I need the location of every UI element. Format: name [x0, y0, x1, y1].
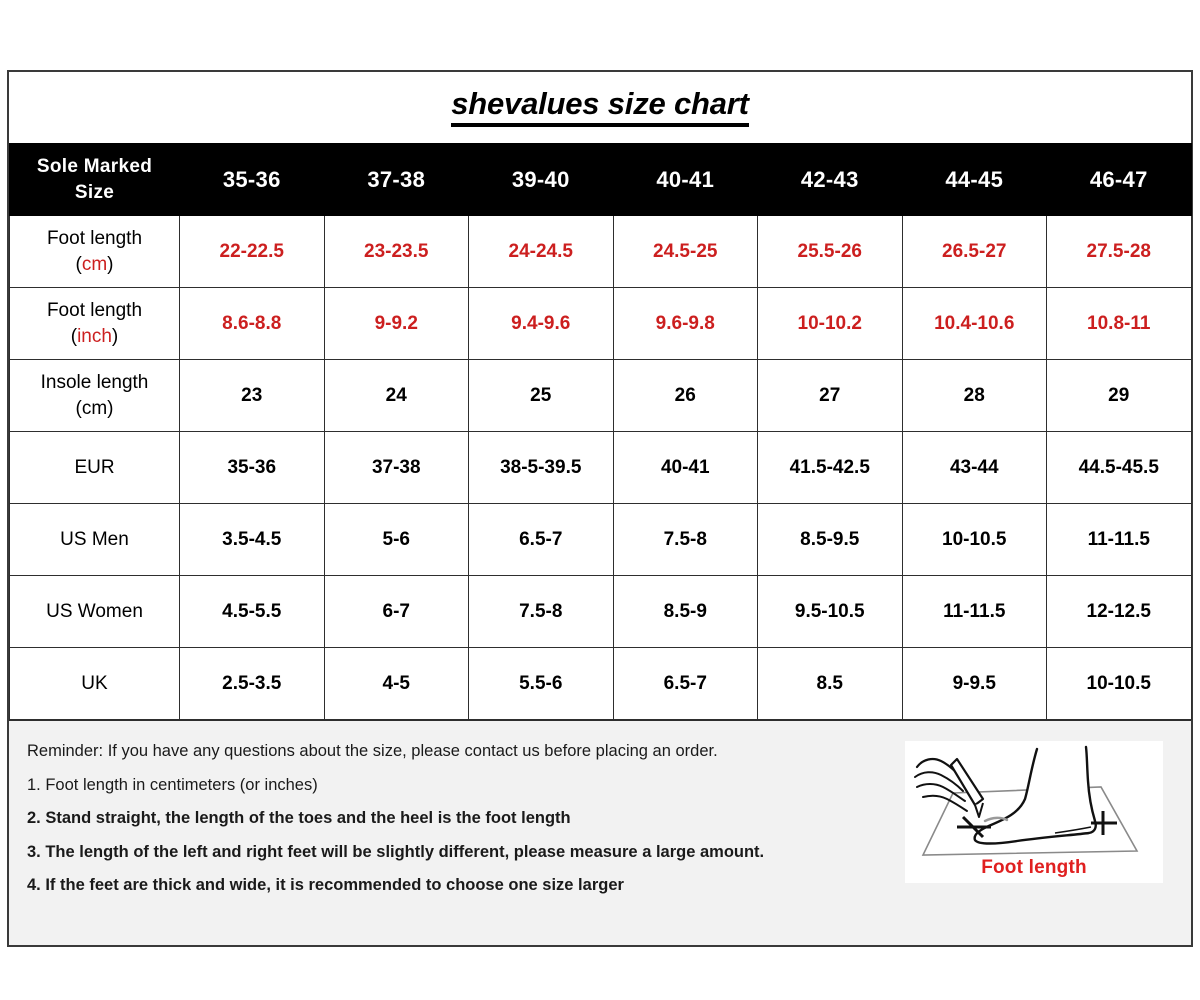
table-cell: 23-23.5: [324, 216, 469, 288]
table-cell: 38-5-39.5: [469, 432, 614, 504]
table-cell: 37-38: [324, 432, 469, 504]
table-row: Foot length(inch)8.6-8.89-9.29.4-9.69.6-…: [10, 288, 1192, 360]
table-cell: 5-6: [324, 504, 469, 576]
table-cell: 9.4-9.6: [469, 288, 614, 360]
table-cell: 11-11.5: [1047, 504, 1192, 576]
row-label-main: US Women: [16, 599, 173, 625]
header-sole-marked-size: Sole Marked Size: [10, 144, 180, 216]
table-cell: 3.5-4.5: [180, 504, 325, 576]
table-cell: 10.8-11: [1047, 288, 1192, 360]
table-cell: 9-9.2: [324, 288, 469, 360]
table-cell: 12-12.5: [1047, 576, 1192, 648]
row-label-unit-close: ): [107, 254, 113, 275]
row-label-main: US Men: [16, 527, 173, 553]
row-label: US Men: [10, 504, 180, 576]
row-label: UK: [10, 648, 180, 720]
row-label-main: Foot length: [16, 298, 173, 324]
header-col-6: 44-45: [902, 144, 1047, 216]
table-cell: 10-10.5: [1047, 648, 1192, 720]
row-label: Foot length(inch): [10, 288, 180, 360]
header-col-5: 42-43: [758, 144, 903, 216]
header-row: Sole Marked Size 35-36 37-38 39-40 40-41…: [10, 144, 1192, 216]
row-label-unit-text: cm: [82, 398, 107, 419]
table-cell: 5.5-6: [469, 648, 614, 720]
row-label: EUR: [10, 432, 180, 504]
foot-length-caption: Foot length: [905, 857, 1163, 879]
table-cell: 27: [758, 360, 903, 432]
table-cell: 41.5-42.5: [758, 432, 903, 504]
table-body: Foot length(cm)22-22.523-23.524-24.524.5…: [10, 216, 1192, 720]
table-cell: 44.5-45.5: [1047, 432, 1192, 504]
header-col-4: 40-41: [613, 144, 758, 216]
table-cell: 24-24.5: [469, 216, 614, 288]
size-table: Sole Marked Size 35-36 37-38 39-40 40-41…: [9, 143, 1192, 720]
table-cell: 9-9.5: [902, 648, 1047, 720]
row-label-unit-text: cm: [82, 254, 107, 275]
table-cell: 25.5-26: [758, 216, 903, 288]
table-cell: 26: [613, 360, 758, 432]
table-cell: 24.5-25: [613, 216, 758, 288]
row-label-main: EUR: [16, 455, 173, 481]
table-cell: 6.5-7: [469, 504, 614, 576]
row-label-unit-text: inch: [77, 326, 112, 347]
row-label-main: Insole length: [16, 370, 173, 396]
table-cell: 6-7: [324, 576, 469, 648]
header-col-3: 39-40: [469, 144, 614, 216]
table-cell: 9.5-10.5: [758, 576, 903, 648]
table-cell: 10.4-10.6: [902, 288, 1047, 360]
table-header: Sole Marked Size 35-36 37-38 39-40 40-41…: [10, 144, 1192, 216]
table-cell: 7.5-8: [613, 504, 758, 576]
table-row: EUR35-3637-3838-5-39.540-4141.5-42.543-4…: [10, 432, 1192, 504]
row-label-main: Foot length: [16, 226, 173, 252]
table-cell: 35-36: [180, 432, 325, 504]
title-band: shevalues size chart: [9, 72, 1191, 143]
row-label-unit: (inch): [16, 324, 173, 350]
header-col-7: 46-47: [1047, 144, 1192, 216]
table-cell: 11-11.5: [902, 576, 1047, 648]
table-cell: 2.5-3.5: [180, 648, 325, 720]
table-cell: 10-10.5: [902, 504, 1047, 576]
row-label-main: UK: [16, 671, 173, 697]
table-cell: 8.5-9.5: [758, 504, 903, 576]
table-row: Insole length(cm)23242526272829: [10, 360, 1192, 432]
table-cell: 23: [180, 360, 325, 432]
table-cell: 25: [469, 360, 614, 432]
row-label: Insole length(cm): [10, 360, 180, 432]
table-cell: 22-22.5: [180, 216, 325, 288]
table-cell: 24: [324, 360, 469, 432]
row-label-unit-close: ): [112, 326, 118, 347]
row-label: Foot length(cm): [10, 216, 180, 288]
table-row: US Men3.5-4.55-66.5-77.5-88.5-9.510-10.5…: [10, 504, 1192, 576]
row-label: US Women: [10, 576, 180, 648]
notes-panel: Reminder: If you have any questions abou…: [9, 720, 1191, 945]
table-cell: 10-10.2: [758, 288, 903, 360]
table-cell: 4.5-5.5: [180, 576, 325, 648]
row-label-unit: (cm): [16, 396, 173, 422]
table-row: US Women4.5-5.56-77.5-88.5-99.5-10.511-1…: [10, 576, 1192, 648]
table-cell: 29: [1047, 360, 1192, 432]
table-cell: 28: [902, 360, 1047, 432]
header-col-1: 35-36: [180, 144, 325, 216]
size-chart-page: shevalues size chart Sole Marked Size 35…: [0, 0, 1200, 1000]
table-cell: 8.6-8.8: [180, 288, 325, 360]
table-row: Foot length(cm)22-22.523-23.524-24.524.5…: [10, 216, 1192, 288]
header-col-2: 37-38: [324, 144, 469, 216]
table-cell: 4-5: [324, 648, 469, 720]
table-cell: 6.5-7: [613, 648, 758, 720]
table-cell: 9.6-9.8: [613, 288, 758, 360]
size-chart-frame: shevalues size chart Sole Marked Size 35…: [7, 70, 1193, 947]
table-cell: 40-41: [613, 432, 758, 504]
table-row: UK2.5-3.54-55.5-66.5-78.59-9.510-10.5: [10, 648, 1192, 720]
row-label-unit-close: ): [107, 398, 113, 419]
table-cell: 26.5-27: [902, 216, 1047, 288]
table-cell: 27.5-28: [1047, 216, 1192, 288]
page-title: shevalues size chart: [451, 88, 749, 128]
table-cell: 8.5: [758, 648, 903, 720]
foot-measure-diagram: Foot length: [905, 741, 1163, 883]
table-cell: 7.5-8: [469, 576, 614, 648]
table-cell: 8.5-9: [613, 576, 758, 648]
row-label-unit: (cm): [16, 252, 173, 278]
table-cell: 43-44: [902, 432, 1047, 504]
